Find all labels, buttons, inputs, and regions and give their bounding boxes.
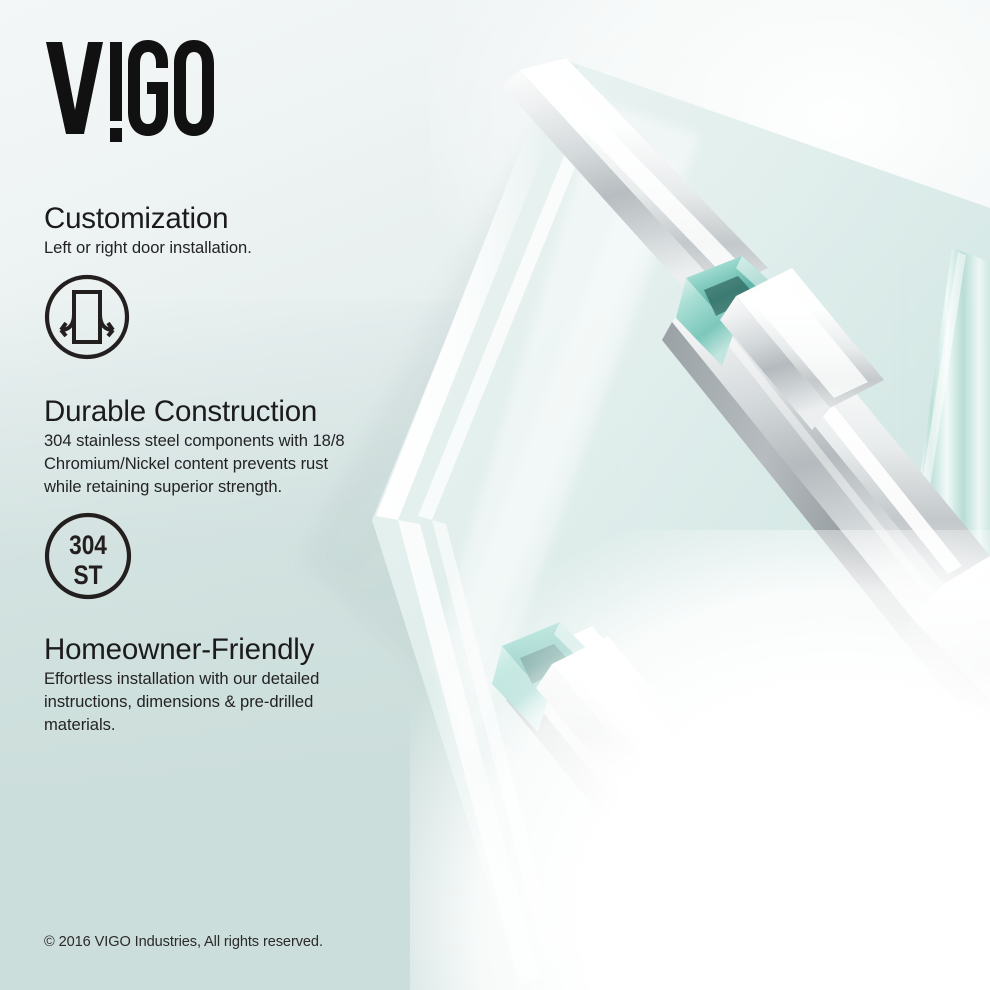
feature-heading: Durable Construction (44, 396, 345, 427)
feature-body: Effortless installation with our detaile… (44, 668, 319, 737)
stainless-steel-304-badge-icon: 304 ST (44, 511, 132, 601)
swing-door-direction-icon (44, 274, 130, 360)
feature-heading: Homeowner-Friendly (44, 634, 319, 665)
background-highlight-bottom-right (410, 530, 990, 990)
vigo-logo (44, 36, 274, 146)
feature-heading: Customization (44, 203, 252, 234)
feature-customization: Customization Left or right door install… (44, 203, 252, 260)
feature-body: 304 stainless steel components with 18/8… (44, 430, 345, 499)
product-infographic: Customization Left or right door install… (0, 0, 990, 990)
feature-homeowner-friendly: Homeowner-Friendly Effortless installati… (44, 634, 319, 737)
feature-body: Left or right door installation. (44, 237, 252, 260)
badge-line-2: ST (74, 560, 103, 590)
badge-line-1: 304 (69, 530, 107, 560)
copyright-notice: © 2016 VIGO Industries, All rights reser… (44, 934, 323, 950)
feature-durable-construction: Durable Construction 304 stainless steel… (44, 396, 345, 499)
